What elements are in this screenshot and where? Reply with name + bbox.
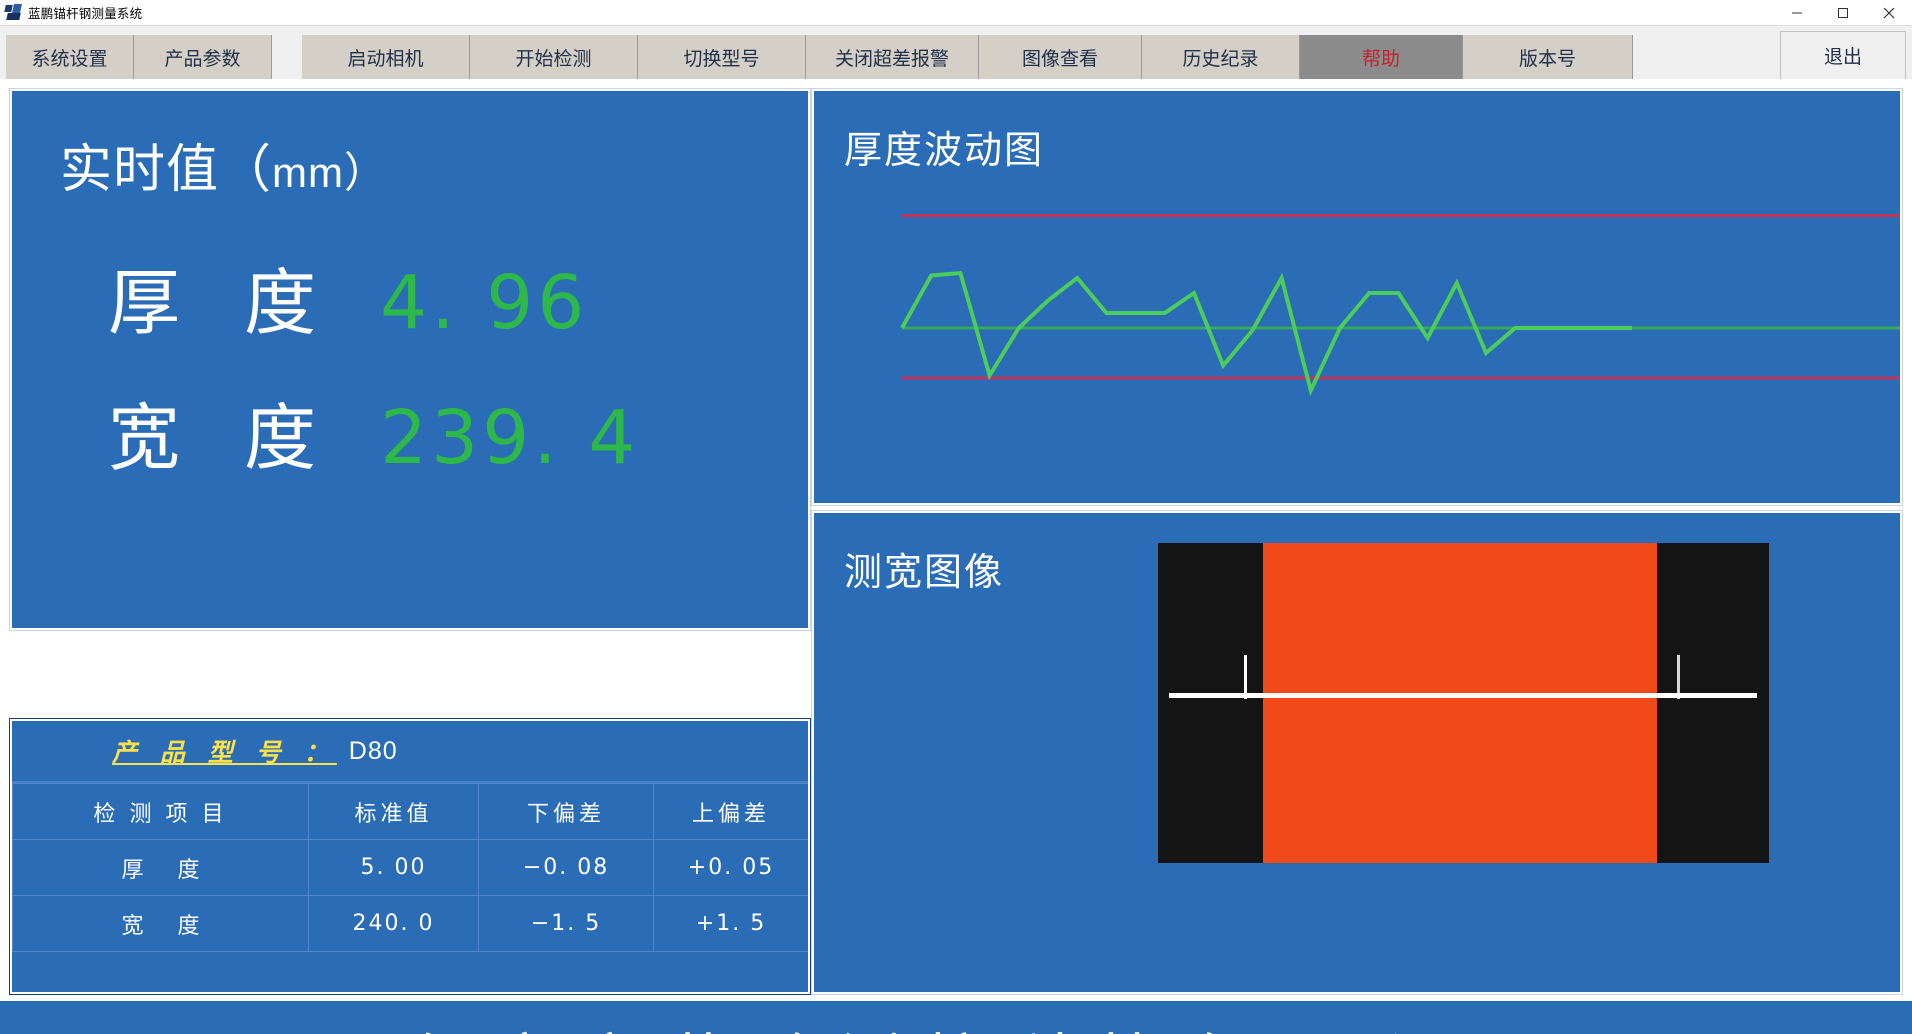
product-parameters-panel: 产 品 型 号 ： D80 检 测 项 目 标准值 下偏差 上偏差 厚 度 5.… <box>10 719 810 994</box>
realtime-title-main: 实时值（ <box>60 141 272 199</box>
toolbar-button-history-record[interactable]: 历史纪录 <box>1142 35 1300 79</box>
camera-image <box>1158 543 1769 863</box>
measurement-line <box>1169 693 1757 698</box>
col-header-item: 检 测 项 目 <box>13 784 309 840</box>
table-header-row: 检 测 项 目 标准值 下偏差 上偏差 <box>13 784 809 840</box>
col-header-lower: 下偏差 <box>479 784 654 840</box>
maximize-icon[interactable] <box>1820 0 1866 26</box>
toolbar-button-start-camera[interactable]: 启动相机 <box>302 35 470 79</box>
company-name: 保定市蓝鹏测控科技有限公司 <box>384 1014 1528 1034</box>
chart-svg <box>814 91 1900 503</box>
workspace: 实时值（mm） 厚 度 4. 96 宽 度 239. 4 产 品 型 号 ： D… <box>0 79 1912 1034</box>
toolbar-button-start-detection[interactable]: 开始检测 <box>470 35 638 79</box>
toolbar-button-switch-model[interactable]: 切换型号 <box>638 35 806 79</box>
tolerance-table: 检 测 项 目 标准值 下偏差 上偏差 厚 度 5. 00 −0. 08 +0.… <box>12 783 809 952</box>
row-upper-width: +1. 5 <box>654 896 809 952</box>
thickness-chart <box>814 91 1900 503</box>
toolbar-button-product-parameters[interactable]: 产品参数 <box>134 35 272 79</box>
window-title: 蓝鹏锚杆钢测量系统 <box>28 3 142 22</box>
toolbar-button-image-view[interactable]: 图像查看 <box>979 35 1142 79</box>
product-model-label: 产 品 型 号 ： <box>112 733 337 769</box>
row-lower-thickness: −0. 08 <box>479 840 654 896</box>
toolbar-button-version-number[interactable]: 版本号 <box>1463 35 1633 79</box>
product-model-value: D80 <box>349 737 398 766</box>
realtime-values-panel: 实时值（mm） 厚 度 4. 96 宽 度 239. 4 <box>10 89 810 630</box>
product-model-row: 产 品 型 号 ： D80 <box>12 721 808 783</box>
row-item-thickness: 厚 度 <box>13 840 309 896</box>
table-row: 宽 度 240. 0 −1. 5 +1. 5 <box>13 896 809 952</box>
toolbar-button-close-tolerance-alarm[interactable]: 关闭超差报警 <box>806 35 979 79</box>
col-header-upper: 上偏差 <box>654 784 809 840</box>
row-standard-thickness: 5. 00 <box>309 840 479 896</box>
toolbar-gap <box>272 35 302 79</box>
toolbar: 系统设置产品参数启动相机开始检测切换型号关闭超差报警图像查看历史纪录帮助版本号 … <box>0 26 1912 79</box>
realtime-row-thickness: 厚 度 4. 96 <box>108 244 808 349</box>
toolbar-button-system-settings[interactable]: 系统设置 <box>6 35 134 79</box>
realtime-thickness-label: 厚 度 <box>108 244 380 349</box>
steel-strip-region <box>1263 543 1657 863</box>
minimize-icon[interactable] <box>1774 0 1820 26</box>
exit-button[interactable]: 退出 <box>1780 31 1906 79</box>
thickness-fluctuation-chart-panel: 厚度波动图 <box>812 89 1902 505</box>
close-icon[interactable] <box>1866 0 1912 26</box>
app-logo-icon <box>5 4 22 21</box>
realtime-title-unit: mm） <box>272 149 387 196</box>
width-measurement-image-panel: 测宽图像 <box>812 511 1902 994</box>
row-lower-width: −1. 5 <box>479 896 654 952</box>
realtime-width-value: 239. 4 <box>380 395 639 481</box>
window-controls <box>1774 0 1912 26</box>
table-row: 厚 度 5. 00 −0. 08 +0. 05 <box>13 840 809 896</box>
row-item-width: 宽 度 <box>13 896 309 952</box>
row-standard-width: 240. 0 <box>309 896 479 952</box>
toolbar-button-help[interactable]: 帮助 <box>1300 35 1463 79</box>
title-bar: 蓝鹏锚杆钢测量系统 <box>0 0 1912 26</box>
company-banner: 保定市蓝鹏测控科技有限公司 <box>0 999 1912 1034</box>
col-header-standard: 标准值 <box>309 784 479 840</box>
realtime-width-label: 宽 度 <box>108 379 380 484</box>
realtime-row-width: 宽 度 239. 4 <box>108 379 808 484</box>
realtime-panel-title: 实时值（mm） <box>60 127 808 202</box>
row-upper-thickness: +0. 05 <box>654 840 809 896</box>
realtime-thickness-value: 4. 96 <box>380 260 588 346</box>
